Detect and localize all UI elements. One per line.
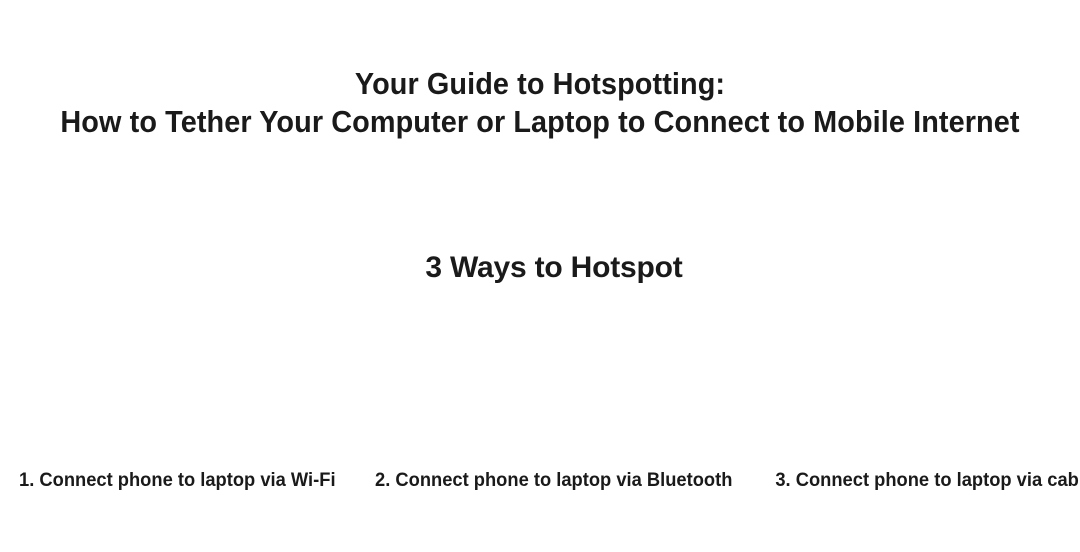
method-item-bluetooth: 2. Connect phone to laptop via Bluetooth: [356, 286, 755, 518]
method-caption-bluetooth: 2. Connect phone to laptop via Bluetooth: [375, 468, 732, 518]
page-title: Your Guide to Hotspotting: How to Tether…: [38, 65, 1042, 141]
method-item-cable: 3. Connect phone to laptop via cable: [755, 286, 1080, 518]
method-caption-wifi: 1. Connect phone to laptop via Wi-Fi: [19, 468, 336, 518]
page-title-line-2: How to Tether Your Computer or Laptop to…: [38, 103, 1042, 141]
wifi-illustration: [0, 286, 356, 468]
page-title-line-1: Your Guide to Hotspotting:: [38, 65, 1042, 103]
method-caption-cable: 3. Connect phone to laptop via cable: [775, 468, 1080, 518]
section-heading: 3 Ways to Hotspot: [14, 249, 1080, 287]
bluetooth-illustration: [356, 286, 755, 468]
infographic-page: Your Guide to Hotspotting: How to Tether…: [0, 0, 1080, 552]
cable-illustration: [755, 286, 1080, 468]
methods-row: 1. Connect phone to laptop via Wi-Fi 2. …: [0, 286, 1080, 518]
method-item-wifi: 1. Connect phone to laptop via Wi-Fi: [0, 286, 356, 518]
